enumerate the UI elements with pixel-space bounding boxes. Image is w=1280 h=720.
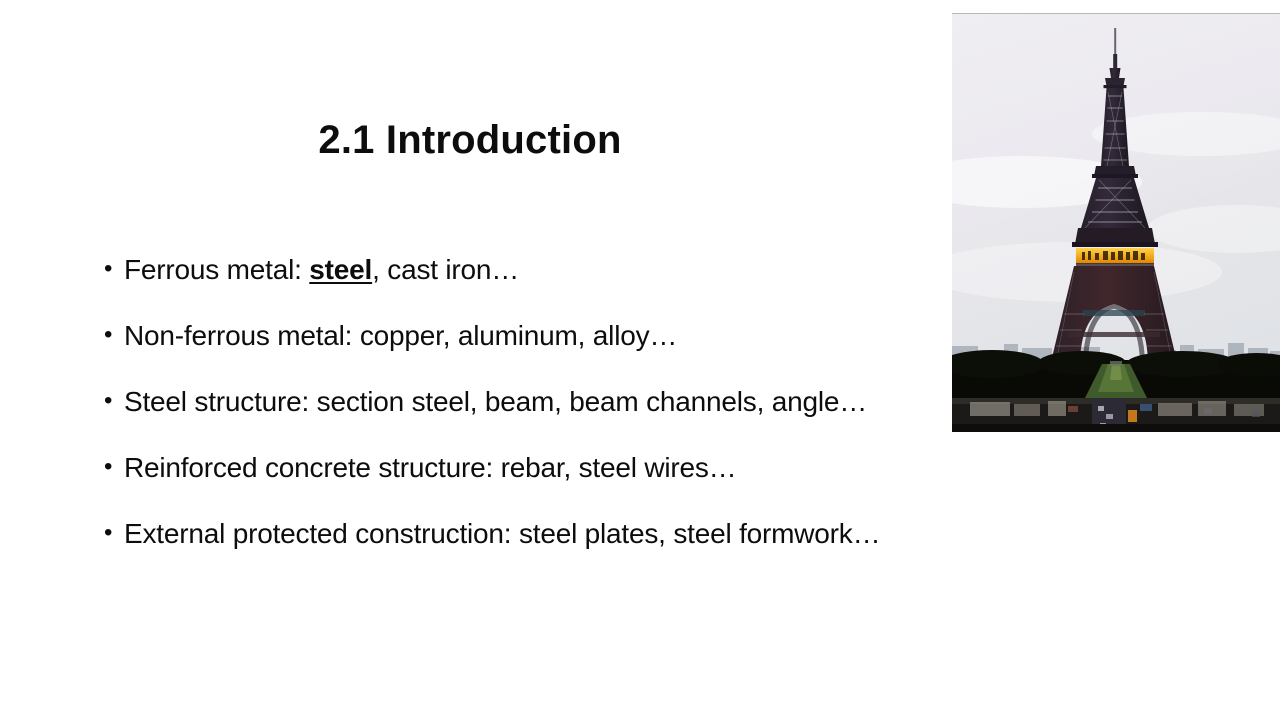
list-item-text: External protected construction: steel p… [124,520,1114,548]
list-item-text: Reinforced concrete structure: rebar, st… [124,454,1114,482]
eiffel-tower-photo [952,13,1280,432]
list-item-text-pre: Ferrous metal: [124,254,309,285]
bullet-marker-icon: • [104,520,124,545]
bullet-marker-icon: • [104,322,124,347]
bullet-marker-icon: • [104,454,124,479]
list-item-text-post: , cast iron… [372,254,519,285]
bullet-marker-icon: • [104,256,124,281]
list-item: • Reinforced concrete structure: rebar, … [104,454,1114,482]
street-detail [952,398,1280,432]
eiffel-tower-illustration [952,14,1280,432]
list-item: • External protected construction: steel… [104,520,1114,548]
bullet-marker-icon: • [104,388,124,413]
page-title: 2.1 Introduction [0,118,940,162]
emphasized-term: steel [309,254,372,285]
